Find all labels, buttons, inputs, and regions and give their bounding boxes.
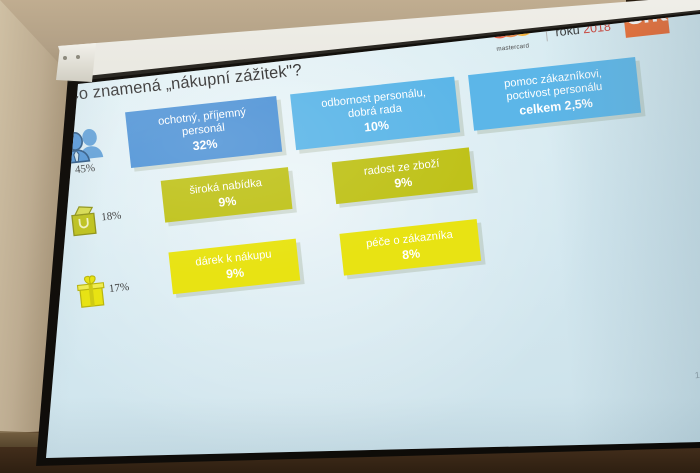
- projection-screen: Co znamená „nákupní zážitek"? mastercard…: [0, 0, 700, 473]
- mount-screw-left-icon: [63, 56, 67, 60]
- mount-screw-right-icon: [76, 55, 80, 59]
- screen-roller-end-cap: [56, 42, 96, 84]
